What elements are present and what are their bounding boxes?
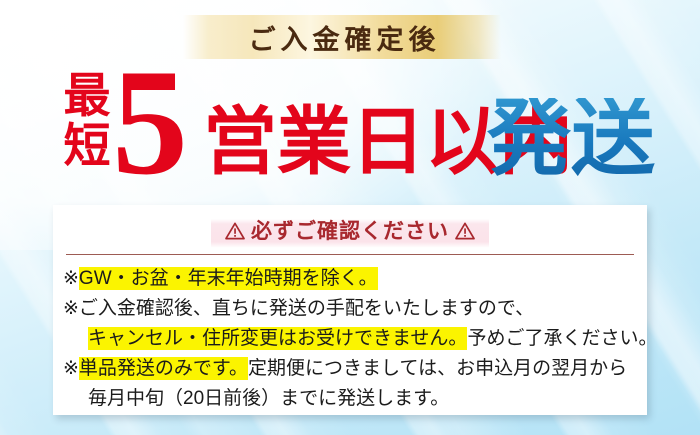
- headline: 最 短 5 営業日以内 発送: [0, 62, 700, 182]
- headline-prefix-stacked: 最 短: [56, 72, 118, 172]
- notice-body: ※GW・お盆・年末年始時期を除く。※ご入金確認後、直ちに発送の手配をいたしますの…: [63, 264, 647, 414]
- warning-triangle-icon: [225, 219, 245, 249]
- headline-number: 5: [112, 46, 188, 198]
- notice-heading-label: 必ずご確認ください: [251, 220, 449, 243]
- notice-line: ※単品発送のみです。定期便につきましては、お申込月の翌月から: [63, 354, 647, 384]
- notice-highlighted-text: キャンセル・住所変更はお受けできません。: [88, 327, 467, 350]
- notice-divider: [66, 254, 634, 255]
- warning-triangle-icon: [455, 219, 475, 249]
- notice-bullet-mark: ※: [63, 298, 79, 319]
- notice-text: 定期便につきましては、お申込月の翌月から: [248, 358, 627, 379]
- notice-highlighted-text: GW・お盆・年末年始時期を除く。: [79, 267, 378, 290]
- notice-box: 必ずご確認ください ※GW・お盆・年末年始時期を除く。※ご入金確認後、直ちに発送…: [53, 205, 647, 415]
- notice-text: ご入金確認後、直ちに発送の手配をいたしますので、: [79, 298, 534, 319]
- notice-line: ※GW・お盆・年末年始時期を除く。: [63, 264, 647, 294]
- gold-ribbon: ご入金確定後: [183, 15, 501, 59]
- notice-bullet-mark: ※: [63, 268, 79, 289]
- headline-suffix: 発送: [487, 98, 655, 182]
- notice-line: ※ご入金確認後、直ちに発送の手配をいたしますので、: [63, 294, 647, 324]
- notice-bullet-mark: ※: [63, 358, 79, 379]
- shipping-notice-banner: ご入金確定後 最 短 5 営業日以内 発送 必ずご確認ください: [0, 0, 700, 435]
- notice-line: 毎月中旬（20日前後）までに発送します。: [63, 384, 647, 414]
- notice-text: 毎月中旬（20日前後）までに発送します。: [88, 388, 449, 409]
- notice-highlighted-text: 単品発送のみです。: [79, 357, 248, 380]
- notice-heading: 必ずご確認ください: [53, 217, 647, 247]
- ribbon-label: ご入金確定後: [244, 18, 441, 57]
- headline-prefix-char-1: 最: [56, 72, 118, 122]
- notice-text: 予めご了承ください。: [467, 328, 657, 349]
- notice-line: キャンセル・住所変更はお受けできません。予めご了承ください。: [63, 324, 647, 354]
- notice-heading-inner: 必ずご確認ください: [211, 217, 489, 249]
- headline-prefix-char-2: 短: [56, 122, 118, 172]
